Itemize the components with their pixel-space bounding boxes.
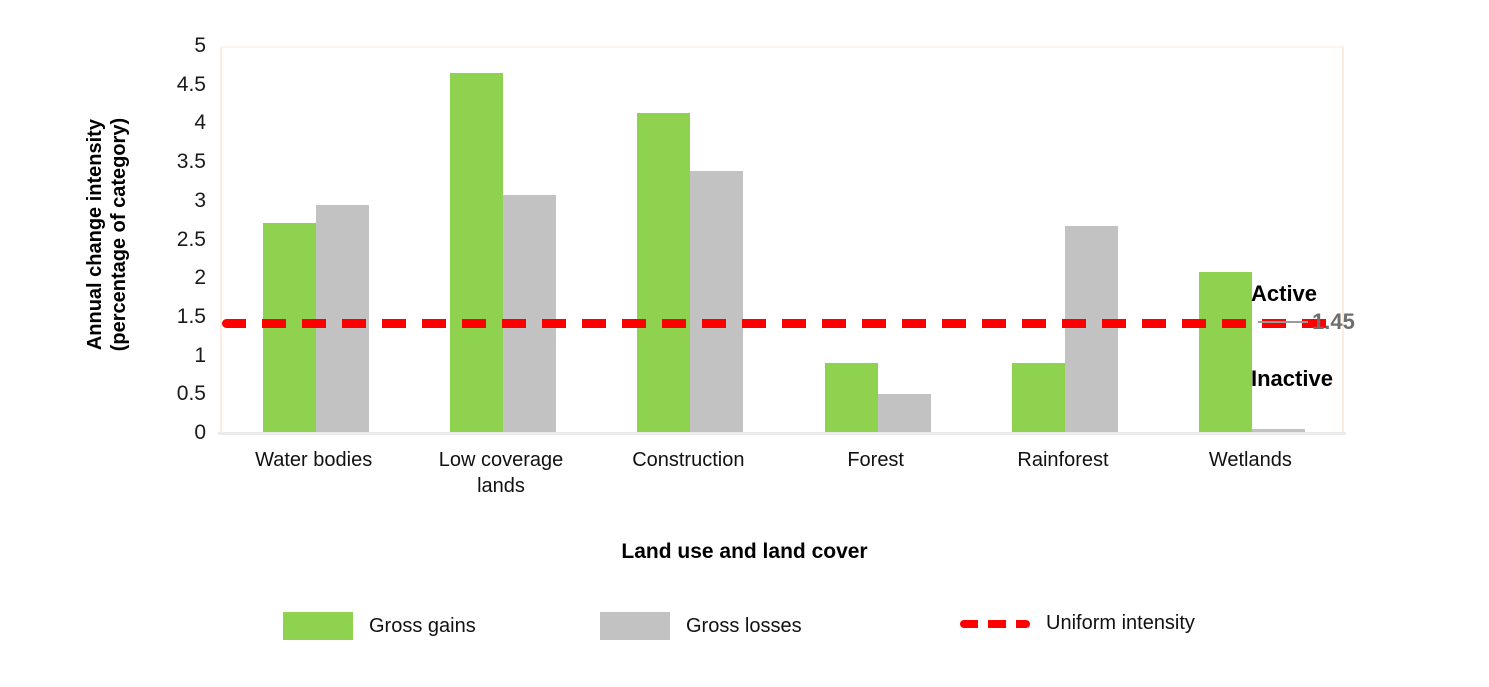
legend-label: Gross losses — [686, 615, 802, 638]
uniform-intensity-reference-line — [222, 319, 1342, 328]
x-axis-tick-label: Wetlands — [1145, 447, 1355, 473]
y-axis-tick-labels: 54.543.532.521.510.50 — [146, 0, 206, 687]
legend-label: Gross gains — [369, 615, 476, 638]
y-axis-title-line1: Annual change intensity — [84, 118, 108, 351]
x-axis-tick-label: Construction — [583, 447, 793, 473]
bar-gross-losses[interactable] — [503, 195, 556, 433]
y-axis-tick-label: 5 — [158, 34, 206, 58]
bar-gross-gains[interactable] — [1012, 363, 1065, 433]
bar-gross-gains[interactable] — [263, 223, 316, 433]
y-axis-tick-label: 0 — [158, 421, 206, 445]
reference-value-leader-line — [1258, 321, 1308, 323]
bar-group — [971, 48, 1158, 433]
y-axis-tick-label: 3.5 — [158, 150, 206, 174]
legend-label: Uniform intensity — [1046, 612, 1195, 635]
y-axis-tick-label: 4.5 — [158, 73, 206, 97]
x-axis-tick-label: Low coveragelands — [396, 447, 606, 499]
bar-group — [597, 48, 784, 433]
reference-value-label: 1.45 — [1312, 309, 1355, 335]
y-axis-tick-label: 2 — [158, 266, 206, 290]
y-axis-tick-label: 2.5 — [158, 228, 206, 252]
bar-gross-losses[interactable] — [690, 171, 743, 433]
legend-item[interactable]: Gross gains — [283, 612, 476, 640]
bar-gross-losses[interactable] — [878, 394, 931, 433]
x-axis-tick-label: Water bodies — [209, 447, 419, 473]
plot-area — [220, 46, 1344, 433]
chart-figure: Annual change intensity (percentage of c… — [0, 0, 1489, 687]
y-axis-tick-label: 4 — [158, 111, 206, 135]
x-axis-tick-label: Forest — [771, 447, 981, 473]
y-axis-title: Annual change intensity (percentage of c… — [78, 60, 138, 410]
bar-gross-losses[interactable] — [1065, 226, 1118, 433]
x-axis-baseline — [218, 432, 1346, 435]
active-region-label: Active — [1251, 281, 1317, 307]
bar-gross-gains[interactable] — [825, 363, 878, 433]
legend-gray-swatch — [600, 612, 670, 640]
y-axis-tick-label: 1.5 — [158, 305, 206, 329]
bar-group — [222, 48, 409, 433]
legend-item[interactable]: Uniform intensity — [960, 612, 1195, 635]
legend-green-swatch — [283, 612, 353, 640]
chart-legend: Gross gainsGross lossesUniform intensity — [0, 612, 1489, 652]
y-axis-title-line2: (percentage of category) — [108, 118, 132, 351]
bar-gross-gains[interactable] — [450, 73, 503, 433]
y-axis-tick-label: 1 — [158, 344, 206, 368]
x-axis-tick-label: Rainforest — [958, 447, 1168, 473]
bar-gross-gains[interactable] — [1199, 272, 1252, 433]
legend-item[interactable]: Gross losses — [600, 612, 802, 640]
bar-group — [784, 48, 971, 433]
bar-gross-gains[interactable] — [637, 113, 690, 433]
legend-red-dashed-line — [960, 620, 1030, 628]
y-axis-tick-label: 0.5 — [158, 382, 206, 406]
x-axis-title: Land use and land cover — [0, 540, 1489, 564]
y-axis-tick-label: 3 — [158, 189, 206, 213]
bar-group — [409, 48, 596, 433]
inactive-region-label: Inactive — [1251, 366, 1333, 392]
bar-series-container — [222, 48, 1342, 433]
